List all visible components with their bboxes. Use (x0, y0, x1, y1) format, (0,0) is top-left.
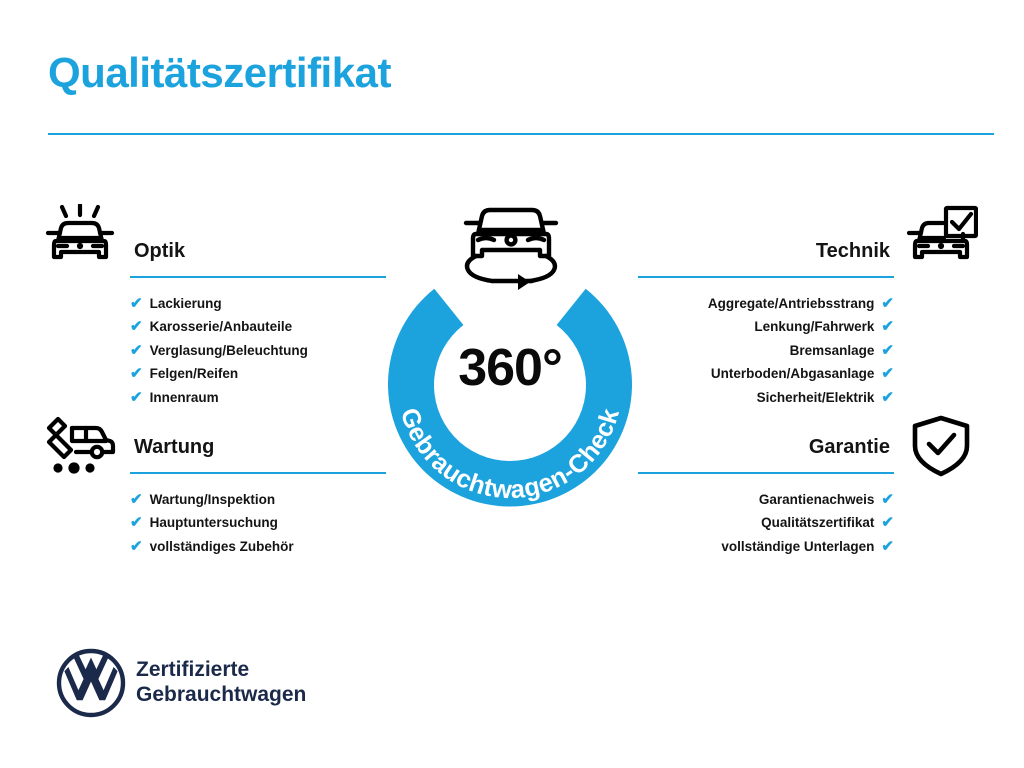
list-item-label: Bremsanlage (790, 339, 875, 362)
section-optik: Optik ✔Lackierung ✔Karosserie/Anbauteile… (130, 238, 386, 409)
check-icon: ✔ (130, 386, 143, 409)
check-icon: ✔ (130, 511, 143, 534)
check-icon: ✔ (130, 535, 143, 558)
car-service-pencil-icon (44, 414, 116, 481)
list-item-label: Wartung/Inspektion (150, 488, 276, 511)
footer-line-1: Zertifizierte (136, 657, 306, 682)
list-item: ✔Innenraum (130, 386, 386, 409)
list-item: ✔Hauptuntersuchung (130, 511, 386, 534)
list-item-label: Felgen/Reifen (150, 362, 239, 385)
check-icon: ✔ (130, 488, 143, 511)
check-icon: ✔ (881, 362, 894, 385)
list-item: Sicherheit/Elektrik✔ (638, 386, 894, 409)
list-item-label: Lackierung (150, 292, 222, 315)
list-item: ✔Felgen/Reifen (130, 362, 386, 385)
section-wartung-title: Wartung (130, 434, 386, 460)
list-item-label: Hauptuntersuchung (150, 511, 278, 534)
check-icon: ✔ (130, 362, 143, 385)
list-item: Lenkung/Fahrwerk✔ (638, 315, 894, 338)
section-technik-list: Aggregate/Antriebsstrang✔ Lenkung/Fahrwe… (638, 292, 894, 409)
list-item-label: vollständige Unterlagen (721, 535, 874, 558)
section-garantie: Garantie Garantienachweis✔ Qualitätszert… (638, 434, 894, 558)
list-item-label: Sicherheit/Elektrik (757, 386, 875, 409)
car-shine-icon (44, 204, 116, 271)
list-item: Unterboden/Abgasanlage✔ (638, 362, 894, 385)
list-item-label: Garantienachweis (759, 488, 875, 511)
check-icon: ✔ (130, 339, 143, 362)
section-wartung-list: ✔Wartung/Inspektion ✔Hauptuntersuchung ✔… (130, 488, 386, 558)
page-title: Qualitätszertifikat (48, 52, 391, 94)
list-item-label: Verglasung/Beleuchtung (150, 339, 308, 362)
car-checkbox-icon (906, 204, 978, 271)
section-wartung: Wartung ✔Wartung/Inspektion ✔Hauptunters… (130, 434, 386, 558)
section-technik-divider (638, 276, 894, 279)
section-optik-list: ✔Lackierung ✔Karosserie/Anbauteile ✔Verg… (130, 292, 386, 409)
check-icon: ✔ (881, 386, 894, 409)
check-icon: ✔ (881, 315, 894, 338)
section-wartung-header: Wartung (130, 434, 386, 480)
check-icon: ✔ (130, 292, 143, 315)
shield-check-icon (908, 414, 974, 483)
list-item: Qualitätszertifikat✔ (638, 511, 894, 534)
check-icon: ✔ (881, 292, 894, 315)
section-garantie-list: Garantienachweis✔ Qualitätszertifikat✔ v… (638, 488, 894, 558)
list-item: Bremsanlage✔ (638, 339, 894, 362)
list-item-label: Qualitätszertifikat (761, 511, 874, 534)
list-item-label: Unterboden/Abgasanlage (711, 362, 875, 385)
check-icon: ✔ (130, 315, 143, 338)
section-optik-header: Optik (130, 238, 386, 284)
section-technik: Technik Aggregate/Antriebsstrang✔ Lenkun… (638, 238, 894, 409)
list-item: ✔Lackierung (130, 292, 386, 315)
section-optik-title: Optik (130, 238, 386, 264)
section-garantie-title: Garantie (638, 434, 894, 460)
title-divider (48, 133, 994, 135)
list-item: ✔Karosserie/Anbauteile (130, 315, 386, 338)
footer-line-2: Gebrauchtwagen (136, 682, 306, 707)
list-item: ✔Verglasung/Beleuchtung (130, 339, 386, 362)
list-item: vollständige Unterlagen✔ (638, 535, 894, 558)
car-rotate-icon (452, 196, 570, 294)
section-wartung-divider (130, 472, 386, 475)
list-item-label: Lenkung/Fahrwerk (754, 315, 874, 338)
check-icon: ✔ (881, 339, 894, 362)
check-icon: ✔ (881, 511, 894, 534)
badge-center-label: 360° (376, 338, 644, 398)
list-item-label: Aggregate/Antriebsstrang (708, 292, 875, 315)
list-item: Aggregate/Antriebsstrang✔ (638, 292, 894, 315)
vw-logo-icon (55, 647, 127, 719)
footer-brand-text: Zertifizierte Gebrauchtwagen (136, 657, 306, 707)
section-garantie-header: Garantie (638, 434, 894, 480)
section-technik-title: Technik (638, 238, 894, 264)
check-icon: ✔ (881, 535, 894, 558)
section-technik-header: Technik (638, 238, 894, 284)
list-item-label: vollständiges Zubehör (150, 535, 294, 558)
check-icon: ✔ (881, 488, 894, 511)
section-optik-divider (130, 276, 386, 279)
section-garantie-divider (638, 472, 894, 475)
list-item: ✔vollständiges Zubehör (130, 535, 386, 558)
list-item-label: Innenraum (150, 386, 219, 409)
list-item-label: Karosserie/Anbauteile (150, 315, 293, 338)
list-item: Garantienachweis✔ (638, 488, 894, 511)
list-item: ✔Wartung/Inspektion (130, 488, 386, 511)
